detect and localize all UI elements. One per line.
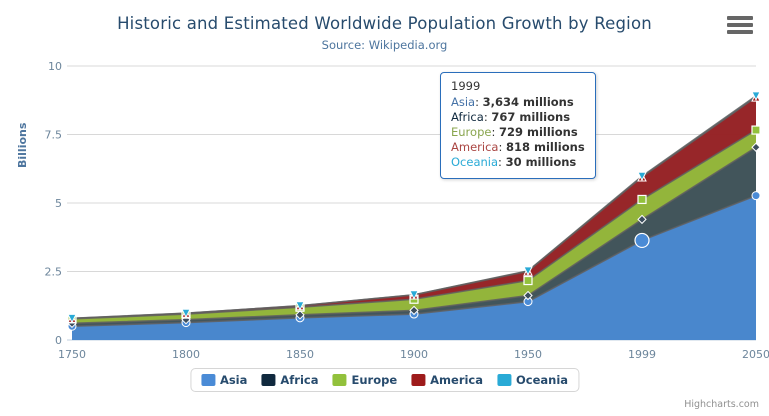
chart-title: Historic and Estimated Worldwide Populat… [0,14,769,33]
menu-bar-1 [727,16,753,20]
tooltip-rows: Asia: 3,634 millionsAfrica: 767 millions… [451,95,585,170]
data-point-europe-1999[interactable] [638,195,646,203]
tooltip-row-oceania: Oceania: 30 millions [451,155,585,170]
y-axis-label: 7.5 [45,129,63,142]
legend-swatch-america [411,374,425,386]
legend-item-asia[interactable]: Asia [201,373,247,387]
tooltip-series-value-america: 818 millions [506,140,585,154]
legend-label-europe: Europe [351,373,397,387]
chart-container: Historic and Estimated Worldwide Populat… [0,0,769,416]
tooltip-series-name-asia: Asia [451,95,475,109]
chart-legend: AsiaAfricaEuropeAmericaOceania [190,368,579,392]
menu-bar-2 [727,23,753,27]
chart-subtitle: Source: Wikipedia.org [0,38,769,52]
x-axis-label-2050: 2050 [742,348,769,361]
data-point-asia-1999[interactable] [635,233,649,247]
x-axis-label-1850: 1850 [286,348,314,361]
highcharts-credit[interactable]: Highcharts.com [684,399,759,410]
y-axis-label: 2.5 [45,266,63,279]
hamburger-menu-icon[interactable] [727,14,753,36]
legend-label-asia: Asia [220,373,247,387]
x-axis-label-1900: 1900 [400,348,428,361]
legend-label-america: America [430,373,483,387]
data-point-europe-2050[interactable] [752,126,760,134]
legend-swatch-europe [332,374,346,386]
tooltip-row-europe: Europe: 729 millions [451,125,585,140]
y-axis-title: Billions [16,123,29,168]
legend-swatch-asia [201,374,215,386]
x-axis-label-1999: 1999 [628,348,656,361]
tooltip-series-name-oceania: Oceania [451,155,498,169]
tooltip-series-value-asia: 3,634 millions [483,95,574,109]
tooltip-series-name-america: America [451,140,498,154]
tooltip-series-name-europe: Europe [451,125,491,139]
tooltip-series-value-africa: 767 millions [491,110,570,124]
legend-item-america[interactable]: America [411,373,483,387]
legend-swatch-africa [261,374,275,386]
data-point-europe-1950[interactable] [524,277,532,285]
chart-plot-area: 02.557.5101750180018501900195019992050 [0,0,769,416]
legend-item-africa[interactable]: Africa [261,373,318,387]
tooltip-header: 1999 [451,79,585,93]
legend-item-europe[interactable]: Europe [332,373,397,387]
chart-tooltip: 1999 Asia: 3,634 millionsAfrica: 767 mil… [440,72,596,179]
x-axis-label-1800: 1800 [172,348,200,361]
legend-swatch-oceania [497,374,511,386]
legend-label-oceania: Oceania [516,373,568,387]
y-axis-label: 0 [55,334,62,347]
menu-bar-3 [727,30,753,34]
x-axis-label-1950: 1950 [514,348,542,361]
tooltip-row-america: America: 818 millions [451,140,585,155]
tooltip-row-asia: Asia: 3,634 millions [451,95,585,110]
y-axis-label: 10 [48,60,62,73]
legend-label-africa: Africa [280,373,318,387]
tooltip-series-value-europe: 729 millions [499,125,578,139]
tooltip-series-name-africa: Africa [451,110,484,124]
x-axis-label-1750: 1750 [58,348,86,361]
y-axis-label: 5 [55,197,62,210]
legend-item-oceania[interactable]: Oceania [497,373,568,387]
tooltip-series-value-oceania: 30 millions [506,155,577,169]
tooltip-row-africa: Africa: 767 millions [451,110,585,125]
data-point-asia-2050[interactable] [752,192,760,200]
